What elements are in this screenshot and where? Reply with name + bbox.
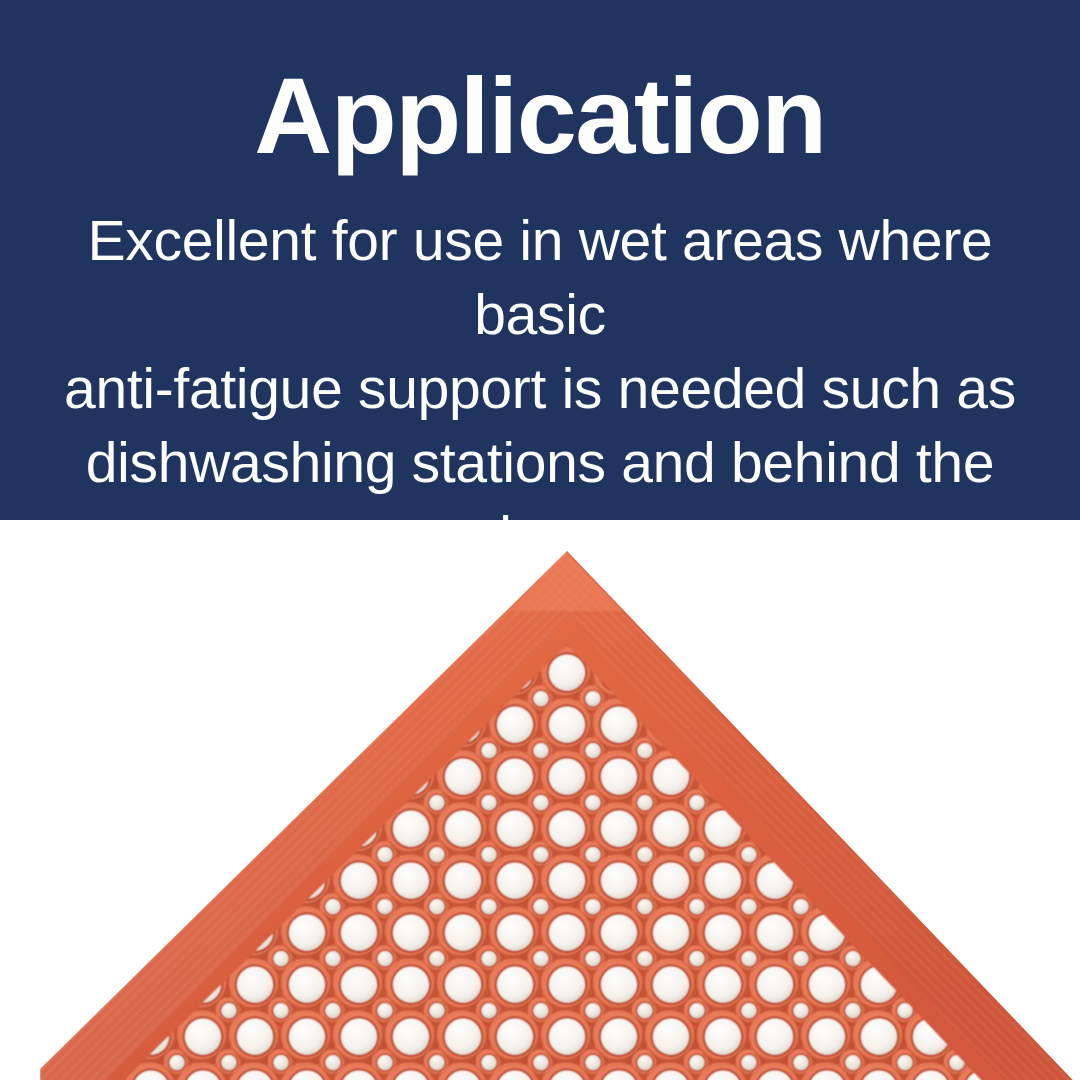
drainage-hole <box>333 646 388 702</box>
drainage-hole <box>177 802 232 857</box>
drainage-hole <box>905 802 960 857</box>
drainage-hole <box>697 646 752 702</box>
drainage-hole-small <box>736 685 765 714</box>
drainage-hole-small <box>996 685 1025 714</box>
drainage-hole <box>73 750 128 806</box>
drainage-hole <box>957 698 1012 754</box>
drainage-hole-small <box>944 737 973 766</box>
drainage-hole-small <box>892 633 921 662</box>
drainage-hole <box>957 906 1012 961</box>
drainage-hole <box>333 594 388 650</box>
drainage-hole-small <box>996 841 1025 870</box>
subtitle-line-2: anti-fatigue support is needed such as <box>40 352 1040 426</box>
drainage-hole-small <box>164 685 193 714</box>
drainage-hole <box>905 646 960 702</box>
drainage-hole <box>177 594 232 650</box>
drainage-hole-small <box>216 789 245 818</box>
drainage-hole <box>73 698 128 754</box>
drainage-hole <box>853 802 908 857</box>
drainage-hole-small <box>1048 893 1077 922</box>
drainage-hole <box>73 802 128 857</box>
drainage-hole-small <box>60 997 89 1026</box>
drainage-hole <box>125 594 180 650</box>
drainage-hole-small <box>112 737 140 766</box>
drainage-hole <box>697 594 752 650</box>
drainage-hole <box>177 750 232 806</box>
drainage-hole <box>801 646 856 702</box>
drainage-hole <box>957 802 1012 857</box>
drainage-hole <box>801 594 856 650</box>
drainage-hole <box>1009 854 1064 909</box>
product-photo-area <box>0 520 1080 1080</box>
drainage-hole <box>957 854 1012 909</box>
drainage-hole <box>40 906 76 961</box>
drainage-hole <box>177 698 232 754</box>
drainage-hole <box>1009 698 1064 754</box>
drainage-hole <box>1061 646 1080 702</box>
drainage-hole <box>853 698 908 754</box>
mat-illustration <box>40 536 1080 1080</box>
drainage-hole-small <box>840 685 869 714</box>
drainage-hole <box>1061 594 1080 650</box>
drainage-hole <box>229 750 284 806</box>
product-feature-card: Application Excellent for use in wet are… <box>0 0 1080 1080</box>
drainage-hole-small <box>1048 633 1077 662</box>
drainage-hole <box>853 646 908 702</box>
drainage-hole-small <box>1048 737 1077 766</box>
drainage-hole <box>1061 750 1080 806</box>
drainage-hole-small <box>944 685 973 714</box>
drainage-hole <box>73 854 128 909</box>
drainage-hole-small <box>788 633 817 662</box>
drainage-hole <box>905 594 960 650</box>
drainage-hole-small <box>996 789 1025 818</box>
drainage-hole-small <box>164 789 193 818</box>
drainage-hole <box>1009 906 1064 961</box>
drainage-hole <box>40 646 76 702</box>
drainage-hole <box>281 646 336 702</box>
drainage-hole <box>1061 1010 1080 1065</box>
drainage-hole-small <box>268 685 297 714</box>
drainage-hole <box>40 750 76 806</box>
mat-surface-grain <box>40 536 1080 1080</box>
drainage-hole-small <box>216 685 245 714</box>
drainage-hole <box>281 594 336 650</box>
drainage-hole <box>125 854 180 909</box>
drainage-hole-small <box>164 841 193 870</box>
drainage-hole <box>40 958 76 1013</box>
drainage-hole-small <box>216 841 245 870</box>
drainage-hole-small <box>788 737 817 766</box>
drainage-hole <box>281 698 336 754</box>
drainage-hole <box>73 646 128 702</box>
drainage-hole-small <box>944 633 973 662</box>
drainage-hole <box>385 594 440 650</box>
drainage-hole-small <box>892 685 921 714</box>
drainage-hole-small <box>320 685 349 714</box>
drainage-hole-small <box>892 841 921 870</box>
drainage-hole-small <box>736 633 765 662</box>
subtitle-line-1: Excellent for use in wet areas where bas… <box>40 204 1040 352</box>
drainage-hole-small <box>320 737 349 766</box>
drainage-hole-small <box>996 893 1025 922</box>
drainage-hole <box>749 646 804 702</box>
drainage-hole <box>40 854 76 909</box>
drainage-hole-small <box>944 893 973 922</box>
drainage-hole <box>957 750 1012 806</box>
header-panel: Application Excellent for use in wet are… <box>0 0 1080 520</box>
drainage-hole <box>957 594 1012 650</box>
drainage-hole-small <box>840 789 869 818</box>
page-title: Application <box>254 0 826 170</box>
drainage-hole-small <box>268 737 297 766</box>
drainage-hole <box>905 698 960 754</box>
drainage-hole-small <box>112 841 140 870</box>
drainage-hole <box>229 698 284 754</box>
drainage-hole <box>229 646 284 702</box>
drainage-hole-small <box>996 945 1025 974</box>
drainage-hole-small <box>944 789 973 818</box>
drainage-hole <box>177 646 232 702</box>
drainage-hole <box>40 698 76 754</box>
header-subtitle: Excellent for use in wet areas where bas… <box>40 170 1040 574</box>
drainage-hole <box>1009 750 1064 806</box>
drainage-hole-small <box>112 893 140 922</box>
drainage-hole-small <box>1048 841 1077 870</box>
drainage-hole <box>73 594 128 650</box>
drainage-hole-small <box>60 737 89 766</box>
drainage-hole-small <box>60 945 89 974</box>
drainage-hole-small <box>996 633 1025 662</box>
drainage-hole-small <box>944 841 973 870</box>
drainage-hole <box>40 802 76 857</box>
drainage-hole-small <box>216 633 245 662</box>
drainage-hole <box>229 594 284 650</box>
drainage-hole-small <box>216 737 245 766</box>
drainage-hole-small <box>1048 685 1077 714</box>
drainage-hole-small <box>268 633 297 662</box>
anti-fatigue-mat-photo <box>40 536 1080 1080</box>
mat-body <box>40 536 1080 1080</box>
drainage-hole <box>1061 698 1080 754</box>
drainage-hole-small <box>892 737 921 766</box>
drainage-hole-small <box>996 737 1025 766</box>
drainage-hole <box>125 750 180 806</box>
drainage-hole-small <box>112 633 140 662</box>
drainage-hole-small <box>892 789 921 818</box>
drainage-hole <box>801 698 856 754</box>
drainage-hole-small <box>840 737 869 766</box>
drainage-hole-small <box>60 893 89 922</box>
drainage-hole <box>1061 802 1080 857</box>
drainage-hole <box>1009 802 1064 857</box>
drainage-hole <box>125 646 180 702</box>
drainage-hole-small <box>112 789 140 818</box>
drainage-hole-small <box>320 633 349 662</box>
drainage-hole-small <box>60 789 89 818</box>
drainage-hole-small <box>60 685 89 714</box>
drainage-hole-small <box>164 737 193 766</box>
drainage-hole <box>125 802 180 857</box>
drainage-hole <box>40 594 76 650</box>
drainage-hole <box>1009 958 1064 1013</box>
drainage-hole-small <box>112 945 140 974</box>
drainage-hole-small <box>1048 789 1077 818</box>
drainage-hole <box>853 594 908 650</box>
drainage-hole-small <box>1048 945 1077 974</box>
drainage-hole <box>749 698 804 754</box>
drainage-hole-small <box>684 633 713 662</box>
drainage-hole-small <box>372 633 401 662</box>
drainage-hole-small <box>164 633 193 662</box>
drainage-hole <box>957 646 1012 702</box>
drainage-hole <box>73 906 128 961</box>
drainage-hole <box>749 594 804 650</box>
drainage-hole <box>905 750 960 806</box>
drainage-hole-small <box>60 841 89 870</box>
drainage-hole <box>801 750 856 806</box>
drainage-hole <box>1061 958 1080 1013</box>
drainage-hole-small <box>840 633 869 662</box>
drainage-hole-small <box>112 685 140 714</box>
drainage-hole <box>853 750 908 806</box>
drainage-hole <box>1009 594 1064 650</box>
drainage-hole-small <box>1048 997 1077 1026</box>
drainage-hole <box>1009 646 1064 702</box>
drainage-hole-small <box>372 685 401 714</box>
drainage-hole <box>1061 906 1080 961</box>
drainage-hole-small <box>60 633 89 662</box>
drainage-hole <box>905 854 960 909</box>
drainage-hole <box>1061 854 1080 909</box>
drainage-hole <box>125 698 180 754</box>
drainage-hole-small <box>268 789 297 818</box>
drainage-hole-small <box>164 893 193 922</box>
drainage-hole-small <box>788 685 817 714</box>
drainage-hole-small <box>424 633 453 662</box>
